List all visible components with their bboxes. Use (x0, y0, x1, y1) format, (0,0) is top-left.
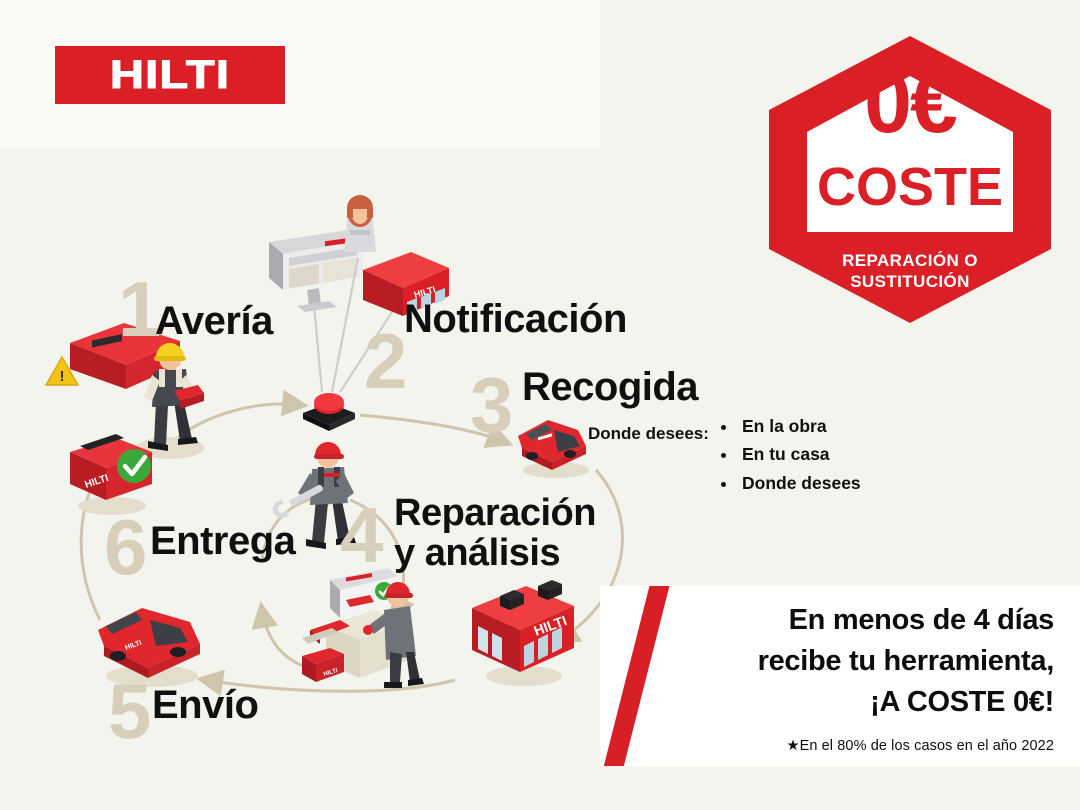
infographic-canvas: HILTI 0€ COSTE REPARACIÓN O SUSTITUCIÓN (0, 0, 1080, 810)
step-number-5: 5 (108, 672, 149, 750)
step-label-reparacion-line2: y análisis (394, 534, 596, 574)
step-number-2: 2 (364, 322, 405, 400)
step-label-recogida: Recogida (522, 366, 698, 408)
step-label-notificacion: Notificación (404, 298, 627, 340)
step-label-envio: Envío (152, 684, 258, 726)
illustration-hilti-service-center: HILTI (462, 572, 580, 692)
promise-footnote: ★En el 80% de los casos en el año 2022 (634, 738, 1054, 754)
step-label-reparacion: Reparación y análisis (394, 494, 596, 574)
promise-callout: En menos de 4 días recibe tu herramienta… (600, 586, 1080, 766)
step-number-4: 4 (340, 496, 381, 574)
step-label-entrega: Entrega (150, 520, 295, 562)
step-number-6: 6 (104, 508, 145, 586)
promise-line-2: recibe tu herramienta, (654, 641, 1054, 682)
step-label-reparacion-line1: Reparación (394, 494, 596, 534)
illustration-red-van-delivery: HILTI (86, 594, 216, 690)
promise-text: En menos de 4 días recibe tu herramienta… (654, 600, 1054, 724)
pickup-option: En la obra (738, 412, 861, 440)
pickup-option: Donde desees (738, 469, 861, 497)
pickup-options-label: Donde desees: (588, 424, 709, 444)
promise-line-1: En menos de 4 días (654, 600, 1054, 641)
illustration-repair-bench: HILTI (298, 560, 438, 690)
promise-line-3: ¡A COSTE 0€! (654, 682, 1054, 723)
pickup-option: En tu casa (738, 440, 861, 468)
illustration-red-van-pickup (508, 410, 600, 480)
step-number-3: 3 (470, 366, 511, 444)
pickup-options-list: En la obra En tu casa Donde desees (718, 412, 861, 497)
